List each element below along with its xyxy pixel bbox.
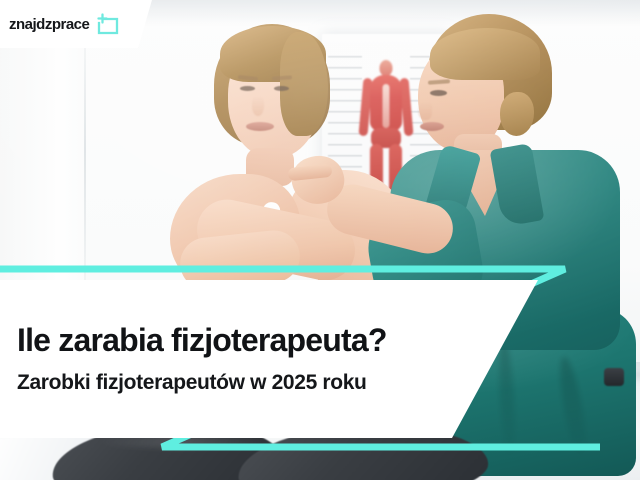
page-title: Ile zarabia fizjoterapeuta? xyxy=(17,324,538,358)
title-banner: Ile zarabia fizjoterapeuta? Zarobki fizj… xyxy=(0,280,538,438)
plus-frame-icon xyxy=(95,13,119,35)
table-object xyxy=(604,368,624,386)
page-subtitle: Zarobki fizjoterapeutów w 2025 roku xyxy=(17,371,538,394)
banner-canvas: Ile zarabia fizjoterapeuta? Zarobki fizj… xyxy=(0,0,640,480)
brand-wordmark: znajdzprace xyxy=(9,17,89,32)
logo-badge[interactable]: znajdzprace xyxy=(0,0,152,48)
